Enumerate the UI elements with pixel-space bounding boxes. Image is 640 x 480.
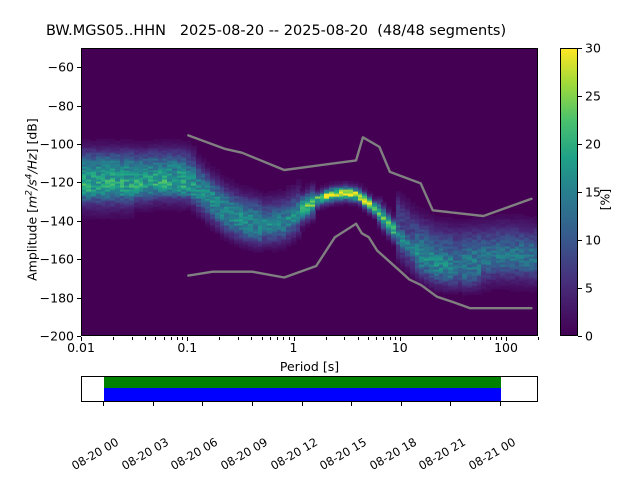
timeline-tick-label: 08-20 00 xyxy=(69,435,121,473)
y-tick-mark xyxy=(77,182,81,183)
colorbar-tick-label: 25 xyxy=(585,89,601,104)
noise-model-lines xyxy=(82,49,538,336)
x-tick-mark-minor xyxy=(451,337,452,340)
y-tick-label: −160 xyxy=(40,252,74,267)
x-tick-mark-minor xyxy=(358,337,359,340)
page-title: BW.MGS05..HHN 2025-08-20 -- 2025-08-20 (… xyxy=(46,22,586,40)
x-tick-label: 0.1 xyxy=(177,340,197,355)
timeline-tick-mark xyxy=(401,402,402,406)
x-tick-mark-minor xyxy=(474,337,475,340)
x-tick-label: 10 xyxy=(392,340,408,355)
y-tick-mark xyxy=(77,298,81,299)
x-tick-mark-minor xyxy=(368,337,369,340)
x-tick-mark-minor xyxy=(219,337,220,340)
timeline-tick-label: 08-20 15 xyxy=(317,435,369,473)
nhnm-line xyxy=(188,135,531,216)
x-tick-mark-minor xyxy=(383,337,384,340)
y-tick-label: −140 xyxy=(40,213,74,228)
timeline-tick-label: 08-20 06 xyxy=(168,435,220,473)
colorbar-tick-mark xyxy=(578,240,582,241)
y-tick-mark xyxy=(77,221,81,222)
colorbar-tick-mark xyxy=(578,48,582,49)
x-tick-mark-minor xyxy=(464,337,465,340)
colorbar-tick-label: 0 xyxy=(585,329,593,344)
y-tick-mark xyxy=(77,106,81,107)
timeline-tick-label: 08-20 12 xyxy=(268,435,320,473)
x-tick-label: 0.01 xyxy=(67,340,95,355)
timeline-tick-mark xyxy=(252,402,253,406)
x-tick-mark-minor xyxy=(283,337,284,340)
x-tick-mark-minor xyxy=(113,337,114,340)
timeline-tick-mark xyxy=(103,402,104,406)
x-tick-mark-minor xyxy=(171,337,172,340)
colorbar-tick-mark xyxy=(578,336,582,337)
y-tick-label: −60 xyxy=(48,60,74,75)
y-tick-label: −80 xyxy=(48,98,74,113)
timeline-segments-bar xyxy=(104,377,501,388)
timeline-axes[interactable] xyxy=(81,376,538,402)
ppsd-plot-area[interactable] xyxy=(81,48,538,336)
y-tick-mark xyxy=(77,144,81,145)
timeline-tick-mark xyxy=(351,402,352,406)
timeline-tick-mark xyxy=(153,402,154,406)
y-tick-label: −120 xyxy=(40,175,74,190)
x-tick-mark-minor xyxy=(262,337,263,340)
timeline-tick-label: 08-21 00 xyxy=(466,435,518,473)
x-tick-mark-minor xyxy=(251,337,252,340)
x-tick-mark-minor xyxy=(390,337,391,340)
x-tick-mark-minor xyxy=(270,337,271,340)
x-tick-mark-minor xyxy=(490,337,491,340)
x-tick-mark-minor xyxy=(376,337,377,340)
timeline-tick-mark xyxy=(302,402,303,406)
x-axis-label: Period [s] xyxy=(81,359,538,374)
x-tick-mark-minor xyxy=(132,337,133,340)
y-tick-mark xyxy=(77,259,81,260)
colorbar-tick-mark xyxy=(578,96,582,97)
x-tick-mark-minor xyxy=(538,337,539,340)
x-tick-mark-minor xyxy=(164,337,165,340)
x-tick-mark-minor xyxy=(238,337,239,340)
colorbar-tick-label: 30 xyxy=(585,41,601,56)
ppsd-figure: BW.MGS05..HHN 2025-08-20 -- 2025-08-20 (… xyxy=(0,0,640,480)
colorbar-tick-mark xyxy=(578,288,582,289)
colorbar xyxy=(560,48,578,336)
y-tick-mark xyxy=(77,336,81,337)
timeline-tick-mark xyxy=(202,402,203,406)
x-tick-mark-minor xyxy=(145,337,146,340)
timeline-coverage-bar xyxy=(104,388,501,401)
colorbar-tick-mark xyxy=(578,192,582,193)
y-tick-label: −100 xyxy=(40,137,74,152)
timeline-tick-mark xyxy=(500,402,501,406)
x-tick-label: 100 xyxy=(494,340,518,355)
nlnm-line xyxy=(188,224,531,309)
colorbar-label: [%] xyxy=(598,140,613,260)
y-axis-ticks: −60−80−100−120−140−160−180−200 xyxy=(0,0,74,480)
y-tick-label: −180 xyxy=(40,290,74,305)
x-tick-mark-minor xyxy=(344,337,345,340)
y-tick-mark xyxy=(77,67,81,68)
timeline-tick-label: 08-20 09 xyxy=(218,435,270,473)
timeline-tick-mark xyxy=(450,402,451,406)
colorbar-tick-label: 5 xyxy=(585,281,593,296)
x-tick-mark-minor xyxy=(155,337,156,340)
x-tick-mark-minor xyxy=(326,337,327,340)
timeline-tick-label: 08-20 03 xyxy=(119,435,171,473)
timeline-tick-label: 08-20 18 xyxy=(367,435,419,473)
x-tick-mark-minor xyxy=(432,337,433,340)
colorbar-tick-mark xyxy=(578,144,582,145)
x-tick-mark-minor xyxy=(482,337,483,340)
timeline-tick-label: 08-20 21 xyxy=(417,435,469,473)
x-tick-label: 1 xyxy=(290,340,298,355)
x-tick-mark-minor xyxy=(277,337,278,340)
